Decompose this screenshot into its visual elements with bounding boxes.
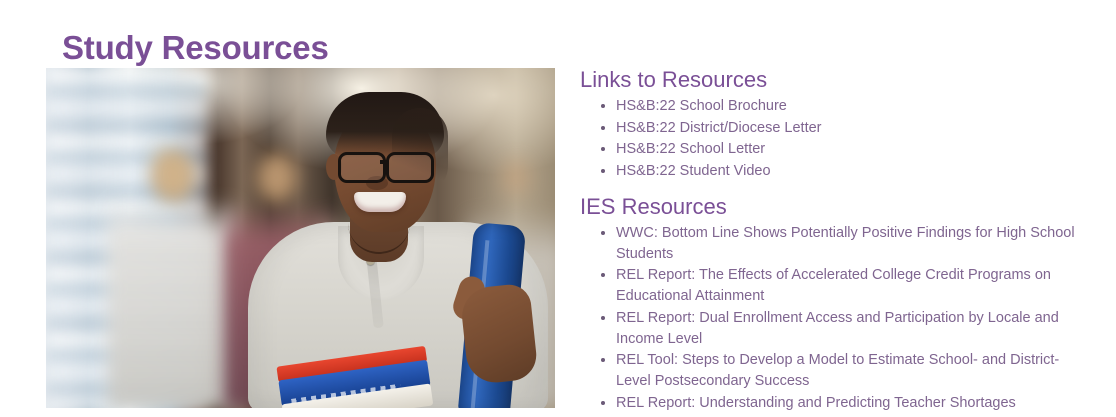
resource-link[interactable]: HS&B:22 School Letter bbox=[616, 141, 765, 157]
list-item[interactable]: REL Report: The Effects of Accelerated C… bbox=[616, 265, 1090, 307]
resource-link[interactable]: HS&B:22 Student Video bbox=[616, 163, 771, 179]
list-item[interactable]: REL Report: Dual Enrollment Access and P… bbox=[616, 308, 1090, 350]
bullet-icon bbox=[601, 231, 605, 235]
glasses-right-lens bbox=[386, 152, 434, 183]
list-item[interactable]: HS&B:22 Student Video bbox=[616, 161, 1090, 182]
section-heading-links-to-resources: Links to Resources bbox=[580, 66, 1090, 94]
eyeglasses-icon bbox=[330, 152, 438, 178]
list-item[interactable]: HS&B:22 School Letter bbox=[616, 139, 1090, 160]
page-title: Study Resources bbox=[62, 28, 329, 68]
list-item[interactable]: HS&B:22 School Brochure bbox=[616, 96, 1090, 117]
student-photo bbox=[46, 68, 555, 408]
section-links-to-resources: Links to Resources HS&B:22 School Brochu… bbox=[580, 66, 1090, 182]
list-item[interactable]: HS&B:22 District/Diocese Letter bbox=[616, 118, 1090, 139]
section-ies-resources: IES Resources WWC: Bottom Line Shows Pot… bbox=[580, 193, 1090, 414]
list-item[interactable]: WWC: Bottom Line Shows Potentially Posit… bbox=[616, 223, 1090, 265]
glasses-left-lens bbox=[338, 152, 386, 183]
bullet-icon bbox=[601, 104, 605, 108]
section-heading-ies-resources: IES Resources bbox=[580, 193, 1090, 221]
resource-link[interactable]: HS&B:22 District/Diocese Letter bbox=[616, 120, 822, 136]
resource-link[interactable]: HS&B:22 School Brochure bbox=[616, 98, 787, 114]
resource-link[interactable]: REL Tool: Steps to Develop a Model to Es… bbox=[616, 352, 1059, 389]
resource-link[interactable]: REL Report: Understanding and Predicting… bbox=[616, 395, 1016, 411]
resource-link[interactable]: REL Report: The Effects of Accelerated C… bbox=[616, 267, 1051, 304]
list-item[interactable]: REL Report: Understanding and Predicting… bbox=[616, 393, 1090, 414]
bullet-icon bbox=[601, 358, 605, 362]
list-item[interactable]: REL Tool: Steps to Develop a Model to Es… bbox=[616, 350, 1090, 392]
student-hand bbox=[459, 283, 539, 386]
resources-content: Links to Resources HS&B:22 School Brochu… bbox=[580, 66, 1090, 414]
ies-resources-list: WWC: Bottom Line Shows Potentially Posit… bbox=[580, 223, 1090, 414]
bullet-icon bbox=[601, 169, 605, 173]
student-figure bbox=[242, 80, 555, 408]
resource-link[interactable]: REL Report: Dual Enrollment Access and P… bbox=[616, 310, 1059, 347]
bullet-icon bbox=[601, 316, 605, 320]
links-to-resources-list: HS&B:22 School Brochure HS&B:22 District… bbox=[580, 96, 1090, 182]
bullet-icon bbox=[601, 126, 605, 130]
student-smile bbox=[354, 192, 406, 212]
background-person-1 bbox=[108, 138, 238, 408]
bullet-icon bbox=[601, 147, 605, 151]
bullet-icon bbox=[601, 401, 605, 405]
bullet-icon bbox=[601, 273, 605, 277]
resource-link[interactable]: WWC: Bottom Line Shows Potentially Posit… bbox=[616, 225, 1075, 262]
